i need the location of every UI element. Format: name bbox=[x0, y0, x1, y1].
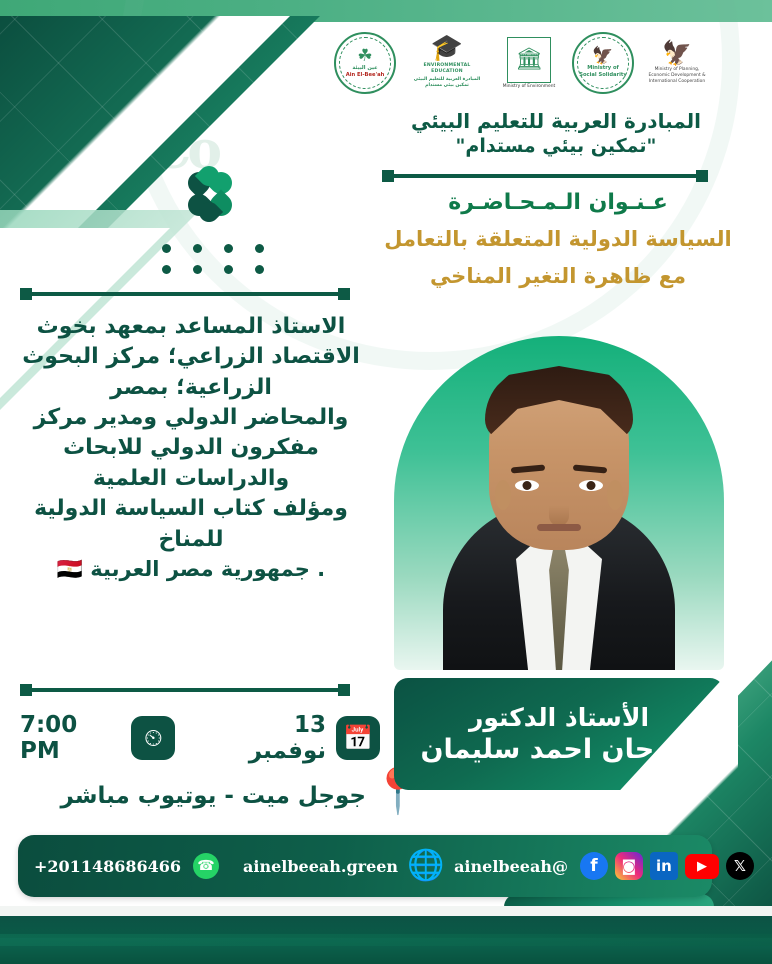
bio-line: للمناخ bbox=[8, 525, 374, 555]
lecture-title-block: عـنـوان الـمـحـاضـرة السياسة الدولية الم… bbox=[372, 186, 744, 292]
social-links: f ◙ in ▶ 𝕏 bbox=[580, 852, 754, 880]
event-time: 7:00 PM bbox=[20, 712, 121, 764]
speaker-bio: الاستاذ المساعد بمعهد بخوث الاقتصاد الزر… bbox=[8, 312, 374, 584]
divider-cap bbox=[382, 170, 394, 182]
bio-line: والدراسات العلمية bbox=[8, 464, 374, 494]
calendar-icon: 📅 bbox=[336, 716, 380, 760]
instagram-icon[interactable]: ◙ bbox=[615, 852, 643, 880]
lecture-title-line-1: السياسة الدولية المتعلقة بالتعامل bbox=[372, 223, 744, 256]
bottom-dark-band bbox=[0, 916, 772, 964]
lecture-label: عـنـوان الـمـحـاضـرة bbox=[372, 186, 744, 219]
phone-number[interactable]: +201148686466 bbox=[34, 857, 181, 876]
ministry-of-environment-logo: 🏛 Ministry of Environment bbox=[498, 37, 560, 90]
speaker-title: الأستاذ الدكتور bbox=[469, 702, 649, 733]
whatsapp-icon[interactable]: ☎ bbox=[193, 853, 219, 879]
contact-footer-bar: +201148686466 ☎ ainelbeeah.green 🌐 ainel… bbox=[18, 835, 712, 897]
bio-line: مفكرون الدولي للابحاث bbox=[8, 433, 374, 463]
speaker-portrait bbox=[394, 336, 724, 670]
graduation-cap-icon: 🎓 bbox=[431, 37, 463, 60]
environmental-education-logo: 🎓 ENVIRONMENTAL EDUCATION المبادرة العرب… bbox=[408, 37, 486, 88]
divider-bar bbox=[394, 174, 696, 178]
environment-emblem-icon: 🏛 bbox=[507, 37, 551, 83]
divider-cap bbox=[338, 684, 350, 696]
lecture-title-line-2: مع ظاهرة التغير المناخي bbox=[372, 260, 744, 293]
divider-cap bbox=[696, 170, 708, 182]
divider-cap bbox=[20, 684, 32, 696]
bottom-light-band bbox=[0, 906, 772, 916]
bio-line: الاقتصاد الزراعي؛ مركز البحوث bbox=[8, 342, 374, 372]
bio-country: . جمهورية مصر العربية 🇪🇬 bbox=[8, 555, 374, 584]
divider-bar bbox=[32, 688, 338, 692]
globe-icon[interactable]: 🌐 bbox=[410, 849, 442, 883]
leaf-icon: ☘ bbox=[357, 48, 372, 65]
divider-top bbox=[382, 170, 708, 182]
ain-el-beeah-logo: ☘ عين البيئة Ain El-Bee'ah bbox=[334, 32, 396, 94]
event-location-row: 📍 جوجل ميت - يوتيوب مباشر bbox=[20, 772, 420, 820]
bio-line: الزراعية؛ بمصر bbox=[8, 373, 374, 403]
initiative-header: المبادرة العربية للتعليم البيئي "تمكين ب… bbox=[380, 108, 732, 160]
divider-cap bbox=[20, 288, 32, 300]
bio-line: الاستاذ المساعد بمعهد بخوث bbox=[8, 312, 374, 342]
initiative-slogan: "تمكين بيئي مستدام" bbox=[380, 134, 732, 160]
dot-grid-icon bbox=[156, 244, 264, 286]
website-url[interactable]: ainelbeeah.green bbox=[243, 857, 398, 876]
divider-bar bbox=[32, 292, 338, 296]
bio-line: والمحاضر الدولي ومدير مركز bbox=[8, 403, 374, 433]
facebook-icon[interactable]: f bbox=[580, 852, 608, 880]
event-poster: Co ☘ عين البيئة Ain El-Bee'ah 🎓 ENVIRONM… bbox=[0, 0, 772, 964]
ministry-of-social-solidarity-logo: 🦅 Ministry of Social Solidarity bbox=[572, 32, 634, 94]
email-address[interactable]: ainelbeeah@ bbox=[454, 857, 568, 876]
event-datetime-row: 📅 13 نوفمبر ⏲ 7:00 PM bbox=[20, 712, 380, 764]
eagle-emblem-icon: 🦅 bbox=[592, 48, 613, 65]
bio-line: ومؤلف كتاب السياسة الدولية bbox=[8, 494, 374, 524]
initiative-title: المبادرة العربية للتعليم البيئي bbox=[380, 108, 732, 134]
event-location: جوجل ميت - يوتيوب مباشر bbox=[61, 783, 366, 809]
flower-motif-icon bbox=[182, 170, 238, 226]
x-twitter-icon[interactable]: 𝕏 bbox=[726, 852, 754, 880]
clock-icon: ⏲ bbox=[131, 716, 175, 760]
youtube-icon[interactable]: ▶ bbox=[685, 854, 719, 879]
ministry-of-planning-logo: 🦅 Ministry of Planning, Economic Develop… bbox=[646, 41, 708, 84]
linkedin-icon[interactable]: in bbox=[650, 852, 678, 880]
divider-left-upper bbox=[20, 288, 350, 300]
eagle-emblem-icon: 🦅 bbox=[662, 41, 692, 65]
divider-cap bbox=[338, 288, 350, 300]
event-date: 13 نوفمبر bbox=[213, 712, 326, 764]
divider-left-lower bbox=[20, 684, 350, 696]
partner-logos: ☘ عين البيئة Ain El-Bee'ah 🎓 ENVIRONMENT… bbox=[334, 24, 754, 102]
